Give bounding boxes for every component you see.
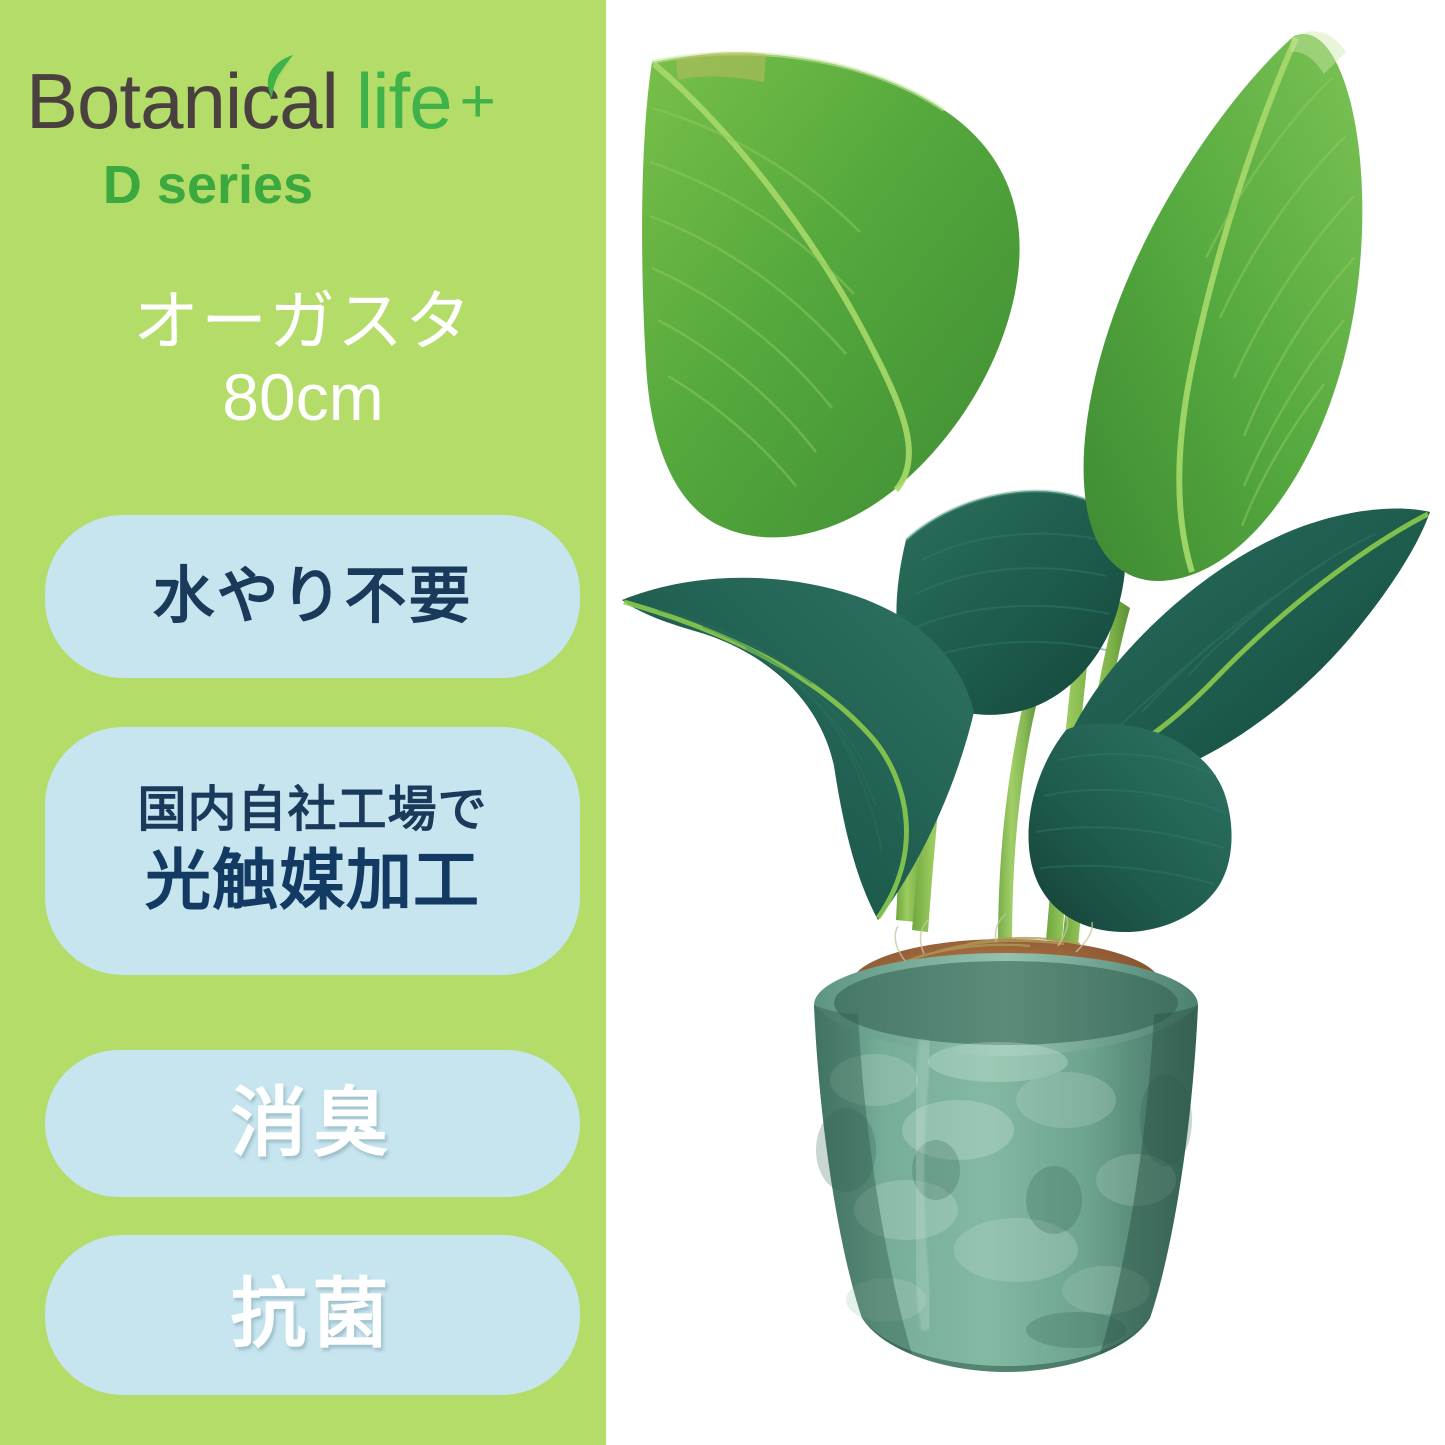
feature-badge-label: 抗菌 xyxy=(231,1275,395,1355)
feature-badge-label: 光触媒加工 xyxy=(145,844,480,918)
product-photo xyxy=(606,0,1445,1445)
info-panel: Botanicallife+ D series オーガスタ 80cm 水やり不要… xyxy=(0,0,606,1445)
product-name: オーガスタ xyxy=(0,286,606,357)
plant-pot xyxy=(814,953,1198,1372)
brand-logo-primary: Botanicallife+ xyxy=(0,62,606,140)
feature-badge-photocatalyst: 国内自社工場で 光触媒加工 xyxy=(45,727,580,975)
feature-badge-subtitle: 国内自社工場で xyxy=(137,784,487,838)
plant-illustration xyxy=(606,0,1445,1445)
feature-badge-label: 消臭 xyxy=(231,1084,395,1164)
leaf-light-upper-right xyxy=(1084,31,1363,581)
product-title-block: オーガスタ 80cm xyxy=(0,286,616,435)
brand-logo: Botanicallife+ D series xyxy=(0,62,606,216)
brand-word-botanical: Botanical xyxy=(26,57,338,145)
feature-badge-antibacterial: 抗菌 xyxy=(45,1235,580,1395)
feature-badge-no-watering: 水やり不要 xyxy=(45,515,580,678)
leaf-light-upper-left xyxy=(642,52,1020,537)
product-image-canvas: Botanicallife+ D series オーガスタ 80cm 水やり不要… xyxy=(0,0,1445,1445)
product-size: 80cm xyxy=(0,361,606,435)
feature-badge-deodorizing: 消臭 xyxy=(45,1050,580,1197)
brand-plus-sign: + xyxy=(460,67,495,136)
feature-badge-label: 水やり不要 xyxy=(152,564,472,629)
brand-word-life: life xyxy=(356,57,452,145)
brand-series-label: D series xyxy=(0,154,606,216)
